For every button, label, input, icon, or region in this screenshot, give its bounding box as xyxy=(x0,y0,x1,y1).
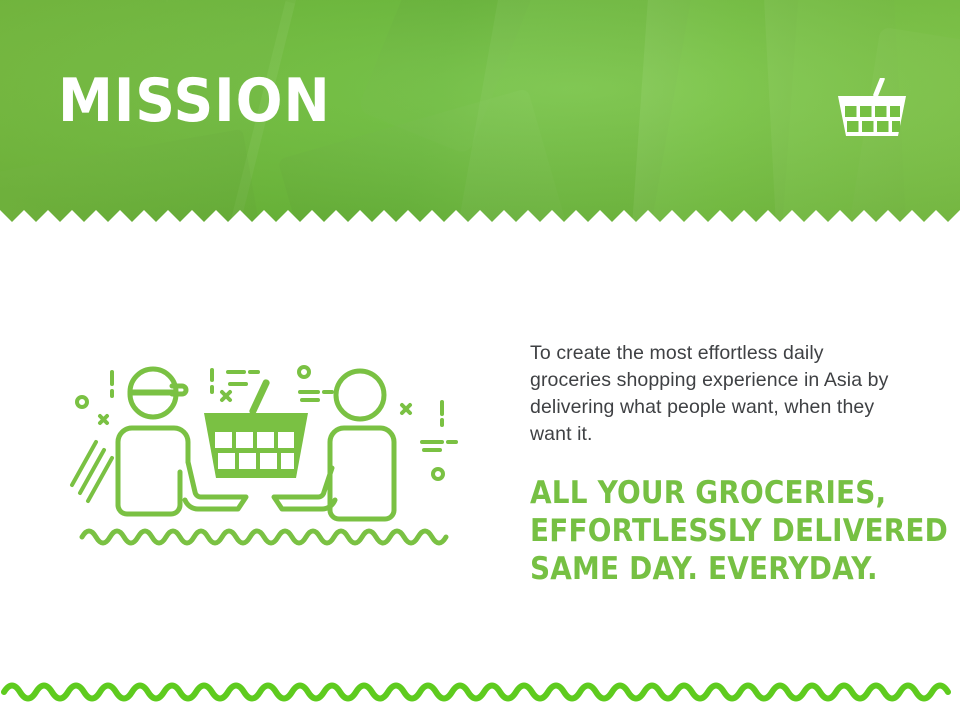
footer-wave-decoration xyxy=(0,676,960,706)
illustration-basket xyxy=(204,378,308,478)
sparkle-marks-right xyxy=(402,402,456,479)
mission-statement-text: To create the most effortless daily groc… xyxy=(530,340,890,448)
sparkle-marks-center xyxy=(212,370,258,400)
tagline-line-1: ALL YOUR GROCERIES, xyxy=(530,474,854,512)
header-banner: MISSION xyxy=(0,0,960,222)
handover-illustration xyxy=(60,350,480,560)
header-sawtooth-edge xyxy=(0,202,960,222)
tagline-block: ALL YOUR GROCERIES, EFFORTLESSLY DELIVER… xyxy=(530,474,854,588)
sparkle-marks-left xyxy=(77,372,112,423)
tagline-line-3: SAME DAY. EVERYDAY. xyxy=(530,550,854,588)
main-content: To create the most effortless daily groc… xyxy=(0,222,960,720)
sparkle-marks-center-right xyxy=(299,367,332,400)
illustration-wave-line xyxy=(82,531,446,543)
speed-lines xyxy=(72,442,112,501)
tagline-line-2: EFFORTLESSLY DELIVERED xyxy=(530,512,854,550)
page-title: MISSION xyxy=(58,71,331,131)
shopping-basket-icon xyxy=(836,78,908,140)
mission-copy-column: To create the most effortless daily groc… xyxy=(530,340,890,588)
